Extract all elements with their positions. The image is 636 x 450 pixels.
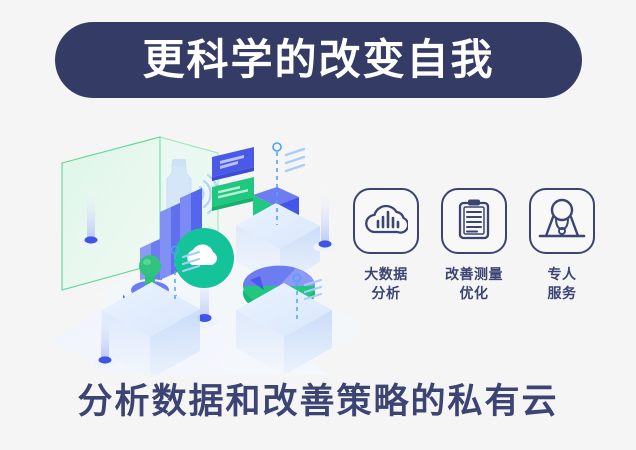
feature-icon-box: [441, 188, 507, 254]
cloud-bar-chart-icon: [364, 201, 408, 242]
feature-item-measurement[interactable]: 改善测量 优化: [438, 188, 510, 303]
feature-list: 大数据 分析: [350, 188, 598, 333]
feature-item-big-data[interactable]: 大数据 分析: [350, 188, 422, 303]
feature-item-service[interactable]: 专人 服务: [526, 188, 598, 303]
person-service-icon: [538, 198, 586, 245]
poster-canvas: 更科学的改变自我: [0, 0, 636, 450]
page-title: 更科学的改变自我: [142, 39, 494, 81]
feature-label: 改善测量 优化: [445, 265, 503, 303]
feature-label: 专人 服务: [548, 265, 577, 303]
clipboard-icon: [457, 198, 491, 245]
illustration: [40, 125, 360, 375]
feature-icon-box: [353, 188, 419, 254]
feature-label: 大数据 分析: [364, 265, 408, 303]
badge-card-blue: [212, 147, 254, 181]
page-caption: 分析数据和改善策略的私有云: [0, 384, 636, 419]
title-banner: 更科学的改变自我: [55, 22, 582, 98]
feature-icon-box: [529, 188, 595, 254]
